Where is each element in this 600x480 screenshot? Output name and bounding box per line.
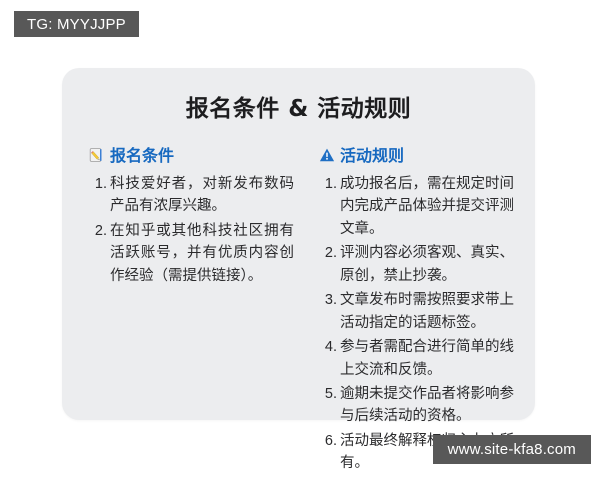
site-watermark-text: www.site-kfa8.com [448,441,576,458]
card-title: 报名条件 & 活动规则 [88,96,509,124]
requirements-heading: 报名条件 [88,146,294,165]
telegram-watermark-text: TG: MYYJJPP [27,16,126,33]
requirements-list: 科技爱好者，对新发布数码产品有浓厚兴趣。 在知乎或其他科技社区拥有活跃账号，并有… [88,173,294,287]
list-item: 逾期未提交作品者将影响参与后续活动的资格。 [318,383,514,428]
rules-column: 活动规则 成功报名后，需在规定时间内完成产品体验并提交评测文章。 评测内容必须客… [306,146,514,477]
site-watermark-badge: www.site-kfa8.com [433,435,591,464]
warning-triangle-icon [318,147,335,164]
list-item: 在知乎或其他科技社区拥有活跃账号，并有优质内容创作经验（需提供链接）。 [88,220,294,287]
telegram-watermark-badge: TG: MYYJJPP [14,11,139,37]
card-columns: 报名条件 科技爱好者，对新发布数码产品有浓厚兴趣。 在知乎或其他科技社区拥有活跃… [88,146,509,477]
rules-heading-label: 活动规则 [340,146,404,165]
list-item: 科技爱好者，对新发布数码产品有浓厚兴趣。 [88,173,294,218]
rules-list: 成功报名后，需在规定时间内完成产品体验并提交评测文章。 评测内容必须客观、真实、… [318,173,514,475]
list-item: 评测内容必须客观、真实、原创，禁止抄袭。 [318,242,514,287]
requirements-column: 报名条件 科技爱好者，对新发布数码产品有浓厚兴趣。 在知乎或其他科技社区拥有活跃… [88,146,306,290]
list-item: 参与者需配合进行简单的线上交流和反馈。 [318,336,514,381]
memo-icon [88,147,105,164]
requirements-heading-label: 报名条件 [110,146,174,165]
rules-card: 报名条件 & 活动规则 报名条件 [62,68,535,420]
list-item: 成功报名后，需在规定时间内完成产品体验并提交评测文章。 [318,173,514,240]
rules-heading: 活动规则 [318,146,514,165]
list-item: 文章发布时需按照要求带上活动指定的话题标签。 [318,289,514,334]
